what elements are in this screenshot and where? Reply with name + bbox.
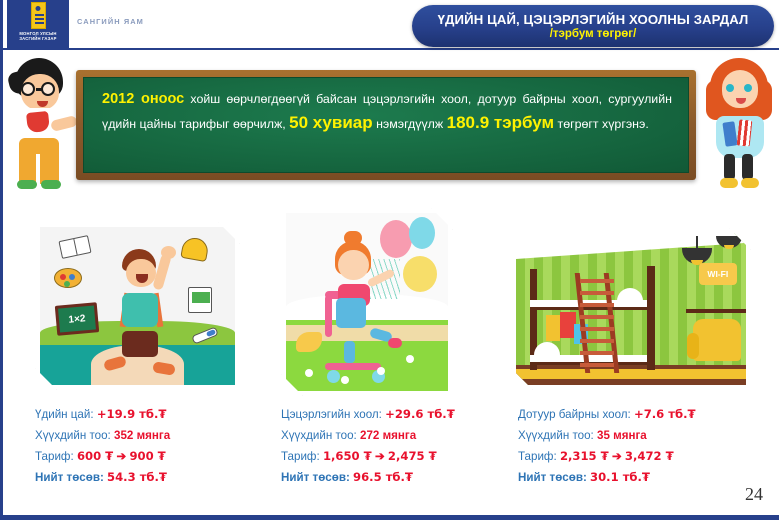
caption-tariff-label: Тариф: [35,450,74,463]
caption-title-value: +7.6 тб.₮ [634,407,696,421]
closed-book-icon [188,287,212,313]
caption-children-row: Хүүхдийн тоо: 272 мянга [281,425,455,446]
caption-total-value: 96.5 тб.₮ [353,470,413,484]
mini-blackboard-icon: 1×2 [54,303,98,337]
ministry-label: САНГИЙН ЯАМ [77,17,144,26]
caption-total-value: 30.1 тб.₮ [590,470,650,484]
caption-tariff-from: 600 ₮ [77,449,113,463]
glasses-icon [20,82,62,96]
book-icon [737,119,753,146]
photo-dormitory: WI-FI [511,228,751,390]
caption-tariff-label: Тариф: [281,450,320,463]
government-logo: МОНГОЛ УЛСЫН ЗАСГИЙН ГАЗАР [7,0,69,48]
chalkboard-surface: 2012 оноос хойш өөрчлөгдөөгүй байсан цэц… [83,77,689,173]
caption-children-label: Хүүхдийн тоо: [35,429,111,442]
caption-children-value: 35 мянга [597,429,647,442]
caption-tariff-from: 2,315 ₮ [560,449,609,463]
caption-tariff-row: Тариф: 2,315 ₮ ➔ 3,472 ₮ [518,446,696,467]
chalkboard-highlight-year: 2012 оноос [102,91,184,107]
caption-tariff-row: Тариф: 1,650 ₮ ➔ 2,475 ₮ [281,446,455,467]
chalkboard: 2012 оноос хойш өөрчлөгдөөгүй байсан цэц… [76,70,696,180]
chalkboard-row: 2012 оноос хойш өөрчлөгдөөгүй байсан цэц… [3,52,779,194]
ladder-icon [580,273,614,373]
soyombo-icon [31,2,46,29]
caption-title-label: Дотуур байрны хоол: [518,408,631,421]
caption-total-label: Нийт төсөв: [281,471,350,484]
caption-block-dotuur-bairny-khool: Дотуур байрны хоол: +7.6 тб.₮ Хүүхдийн т… [518,404,696,488]
girl-with-books-character [704,56,778,191]
arrow-right-icon: ➔ [612,450,622,463]
page-subtitle: /тэрбум төгрөг/ [550,28,637,40]
armchair-icon [693,319,741,361]
balloon-icon [380,220,412,258]
caption-tariff-row: Тариф: 600 ₮ ➔ 900 ₮ [35,446,170,467]
chalkboard-body-2: нэмэгдүүлж [373,117,447,131]
slide-root: МОНГОЛ УЛСЫН ЗАСГИЙН ГАЗАР САНГИЙН ЯАМ Ү… [0,0,779,520]
caption-title-value: +29.6 тб.₮ [385,407,455,421]
caption-block-udiin-tsai: Үдийн цай: +19.9 тб.₮ Хүүхдийн тоо: 352 … [35,404,170,488]
caption-children-value: 272 мянга [360,429,416,442]
caption-children-row: Хүүхдийн тоо: 352 мянга [35,425,170,446]
caption-children-value: 352 мянга [114,429,170,442]
chalkboard-body-3: төгрөгт хүргэнэ. [554,117,649,131]
paint-palette-icon [54,268,82,288]
arrow-right-icon: ➔ [375,450,385,463]
caption-total-row: Нийт төсөв: 54.3 тб.₮ [35,467,170,488]
page-number: 24 [745,484,763,505]
caption-tariff-to: 900 ₮ [129,449,165,463]
caption-title-label: Цэцэрлэгийн хоол: [281,408,382,421]
arrow-right-icon: ➔ [116,450,126,463]
caption-children-row: Хүүхдийн тоо: 35 мянга [518,425,696,446]
caption-title-row: Дотуур байрны хоол: +7.6 тб.₮ [518,404,696,425]
caption-tariff-from: 1,650 ₮ [323,449,372,463]
wifi-sign: WI-FI [699,263,737,285]
chalkboard-text: 2012 оноос хойш өөрчлөгдөөгүй байсан цэц… [102,88,672,136]
caption-title-row: Үдийн цай: +19.9 тб.₮ [35,404,170,425]
page-title: ҮДИЙН ЦАЙ, ЦЭЦЭРЛЭГИЙН ХООЛНЫ ЗАРДАЛ [438,12,749,27]
caption-title-label: Үдийн цай: [35,408,94,421]
caption-children-label: Хүүхдийн тоо: [281,429,357,442]
slide-title-banner: ҮДИЙН ЦАЙ, ЦЭЦЭРЛЭГИЙН ХООЛНЫ ЗАРДАЛ /тэ… [412,5,774,47]
caption-title-value: +19.9 тб.₮ [97,407,167,421]
caption-tariff-to: 3,472 ₮ [625,449,674,463]
chalkboard-highlight-amount: 180.9 тэрбум [447,113,554,132]
caption-total-label: Нийт төсөв: [518,471,587,484]
caption-children-label: Хүүхдийн тоо: [518,429,594,442]
photo-school-boy: 1×2 [35,222,240,390]
photo-kindergarten-girl [281,208,453,396]
chalkboard-highlight-percent: 50 хувиар [289,113,373,132]
balloon-icon [409,217,435,249]
caption-total-label: Нийт төсөв: [35,471,104,484]
balloon-icon [403,256,437,292]
caption-title-row: Цэцэрлэгийн хоол: +29.6 тб.₮ [281,404,455,425]
caption-tariff-to: 2,475 ₮ [388,449,437,463]
caption-block-tsetserlegiin-khool: Цэцэрлэгийн хоол: +29.6 тб.₮ Хүүхдийн то… [281,404,455,488]
boy-with-glasses-character [7,56,81,191]
caption-total-row: Нийт төсөв: 30.1 тб.₮ [518,467,696,488]
logo-line-2: ЗАСГИЙН ГАЗАР [19,36,56,41]
caption-total-value: 54.3 тб.₮ [107,470,167,484]
caption-tariff-label: Тариф: [518,450,557,463]
slide-header: МОНГОЛ УЛСЫН ЗАСГИЙН ГАЗАР САНГИЙН ЯАМ Ү… [3,0,779,50]
caption-total-row: Нийт төсөв: 96.5 тб.₮ [281,467,455,488]
